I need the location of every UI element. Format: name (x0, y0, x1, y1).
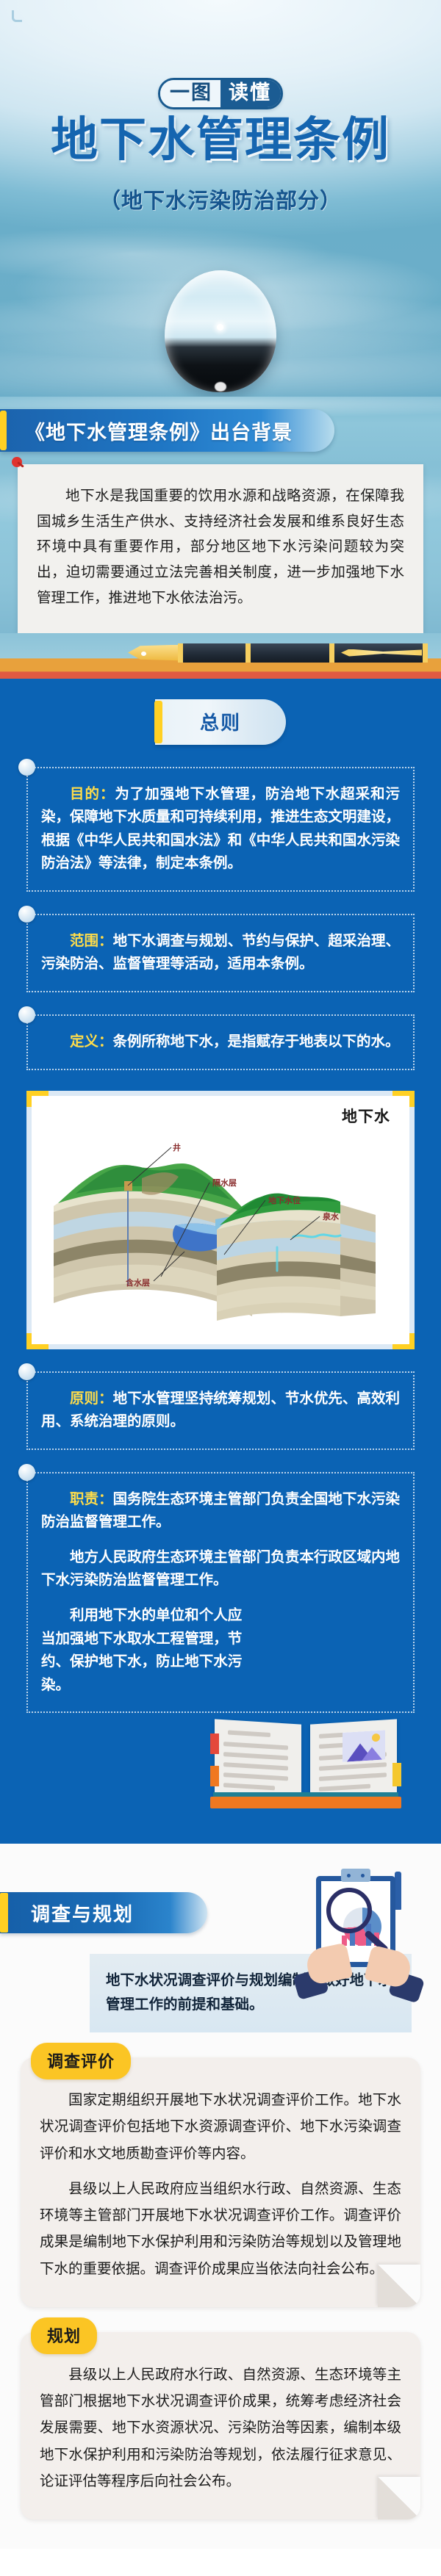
provision-text: 条例所称地下水，是指赋存于地表以下的水。 (113, 1033, 400, 1050)
bullet-dot-icon (18, 759, 35, 776)
bullet-dot-icon (18, 1006, 35, 1023)
clipboard-analysis-icon (309, 1866, 403, 1977)
general-header-label: 总则 (200, 708, 241, 735)
pen-nib-icon (128, 645, 184, 661)
groundwater-diagram: 地下水 (32, 1096, 409, 1344)
provision-item: 原则：地下水管理坚持统筹规划、节水优先、高效利用、系统治理的原则。 (26, 1371, 415, 1450)
bullet-dot-icon (18, 906, 35, 923)
provision-box: 范围：地下水调查与规划、节约与保护、超采治理、污染防治、监督管理等活动，适用本条… (26, 914, 415, 992)
planning-card-tag: 规划 (31, 2317, 97, 2354)
survey-card-body: 国家定期组织开展地下水状况调查评价工作。地下水状况调查评价包括地下水资源调查评价… (21, 2057, 420, 2307)
pen-ring (245, 643, 251, 663)
background-paragraph: 地下水是我国重要的饮用水源和战略资源，在保障我国城乡生活生产供水、支持经济社会发… (37, 483, 404, 611)
book-bookmark-orange (210, 1766, 219, 1786)
diagram-label-spring: 泉水 (323, 1211, 339, 1222)
provision-box: 原则：地下水管理坚持统筹规划、节水优先、高效利用、系统治理的原则。 (26, 1371, 415, 1450)
survey-card-tag: 调查评价 (31, 2043, 131, 2079)
background-section-header: 《地下水管理条例》出台背景 (0, 409, 334, 452)
provision-paragraph: 原则：地下水管理坚持统筹规划、节水优先、高效利用、系统治理的原则。 (41, 1388, 400, 1434)
water-droplet-icon (165, 270, 276, 392)
magnifier-icon (326, 1888, 372, 1933)
water-splash-icon (215, 382, 226, 392)
pen-ring (329, 643, 334, 663)
hero-banner: 一图 读懂 地下水管理条例 （地下水污染防治部分） (0, 0, 441, 397)
fountain-pen-icon (123, 641, 428, 665)
pen-icon (395, 1872, 401, 1910)
badge-left-text: 一图 (160, 80, 220, 107)
survey-planning-section: 调查与规划 (0, 1844, 441, 2549)
duty-keyword: 职责： (70, 1491, 113, 1507)
background-header-row: 《地下水管理条例》出台背景 (0, 397, 441, 464)
survey-header-row: 调查与规划 (0, 1869, 441, 1955)
bullet-dot-icon (18, 1363, 35, 1380)
duty-paragraph: 职责：国务院生态环境主管部门负责全国地下水污染防治监督管理工作。 (41, 1488, 400, 1534)
yitu-dudong-badge: 一图 读懂 (158, 78, 283, 109)
planning-card: 规划 县级以上人民政府水行政、自然资源、生态环境等主管部门根据地下水状况调查评价… (21, 2332, 420, 2519)
provision-item: 范围：地下水调查与规划、节约与保护、超采治理、污染防治、监督管理等活动，适用本条… (26, 914, 415, 992)
planning-card-paragraph: 县级以上人民政府水行政、自然资源、生态环境等主管部门根据地下水状况调查评价成果，… (40, 2362, 401, 2494)
book-left-page (215, 1720, 301, 1801)
corner-bracket-icon (12, 10, 22, 22)
book-picture-icon (343, 1731, 385, 1763)
groundwater-diagram-frame: 地下水 (26, 1091, 415, 1349)
survey-header-label: 调查与规划 (0, 1899, 134, 1927)
duty-box: 职责：国务院生态环境主管部门负责全国地下水污染防治监督管理工作。 地方人民政府生… (26, 1472, 415, 1714)
duty-text-3: 利用地下水的单位和个人应当加强地下水取水工程管理，节约、保护地下水，防止地下水污… (41, 1604, 242, 1697)
general-provisions-section: 总则 目的：为了加强地下水管理，防治地下水超采和污染，保障地下水质量和可持续利用… (0, 679, 441, 1844)
diagram-label-well: 井 (173, 1141, 181, 1153)
book-bookmark-yellow (392, 1763, 401, 1786)
clipboard-clip (341, 1869, 370, 1882)
pen-ring (423, 643, 428, 663)
book-bookmark-red (210, 1733, 219, 1754)
provision-keyword: 目的： (70, 786, 115, 802)
background-card: 地下水是我国重要的饮用水源和战略资源，在保障我国城乡生活生产供水、支持经济社会发… (18, 464, 423, 633)
badge-right-text: 读懂 (220, 80, 281, 107)
pushpin-icon (12, 457, 22, 467)
provision-keyword: 原则： (70, 1390, 113, 1407)
diagram-label-aquiclude: 隔水层 (212, 1177, 237, 1188)
provision-paragraph: 定义：条例所称地下水，是指赋存于地表以下的水。 (41, 1031, 400, 1054)
provision-keyword: 范围： (70, 933, 113, 949)
book-cover (210, 1797, 401, 1808)
open-book-icon (210, 1717, 401, 1808)
background-section: 地下水是我国重要的饮用水源和战略资源，在保障我国城乡生活生产供水、支持经济社会发… (0, 464, 441, 633)
general-section-header: 总则 (155, 699, 286, 745)
survey-card: 调查评价 国家定期组织开展地下水状况调查评价工作。地下水状况调查评价包括地下水资… (21, 2057, 420, 2307)
open-book-illustration-wrap (0, 1717, 441, 1814)
provision-item: 目的：为了加强地下水管理，防治地下水超采和污染，保障地下水质量和可持续利用，推进… (26, 767, 415, 892)
book-right-page (310, 1720, 397, 1801)
provision-paragraph: 目的：为了加强地下水管理，防治地下水超采和污染，保障地下水质量和可持续利用，推进… (41, 783, 400, 876)
survey-card-paragraph: 县级以上人民政府应当组织水行政、自然资源、生态环境等主管部门开展地下水状况调查评… (40, 2176, 401, 2282)
page-title: 地下水管理条例 (0, 116, 441, 164)
duty-item: 职责：国务院生态环境主管部门负责全国地下水污染防治监督管理工作。 地方人民政府生… (26, 1472, 415, 1714)
duty-text-2: 地方人民政府生态环境主管部门负责本行政区域内地下水污染防治监督管理工作。 (41, 1546, 400, 1592)
provision-item: 定义：条例所称地下水，是指赋存于地表以下的水。 (26, 1014, 415, 1070)
pen-ring (178, 643, 183, 663)
provision-box: 定义：条例所称地下水，是指赋存于地表以下的水。 (26, 1014, 415, 1070)
survey-card-paragraph: 国家定期组织开展地下水状况调查评价工作。地下水状况调查评价包括地下水资源调查评价… (40, 2087, 401, 2167)
background-header-label: 《地下水管理条例》出台背景 (0, 416, 293, 445)
pen-divider (0, 633, 441, 679)
page-subtitle: （地下水污染防治部分） (0, 184, 441, 214)
diagram-label-water-table: 地下水位 (268, 1194, 301, 1206)
diagram-label-aquifer: 含水层 (126, 1277, 150, 1288)
infographic-page: 一图 读懂 地下水管理条例 （地下水污染防治部分） 《地下水管理条例》出台背景 … (0, 0, 441, 2549)
survey-section-header: 调查与规划 (0, 1892, 207, 1933)
provision-paragraph: 范围：地下水调查与规划、节约与保护、超采治理、污染防治、监督管理等活动，适用本条… (41, 930, 400, 976)
general-header-row: 总则 (0, 679, 441, 745)
provision-keyword: 定义： (70, 1033, 113, 1050)
provision-box: 目的：为了加强地下水管理，防治地下水超采和污染，保障地下水质量和可持续利用，推进… (26, 767, 415, 892)
bullet-dot-icon (18, 1464, 35, 1481)
planning-card-body: 县级以上人民政府水行政、自然资源、生态环境等主管部门根据地下水状况调查评价成果，… (21, 2332, 420, 2519)
